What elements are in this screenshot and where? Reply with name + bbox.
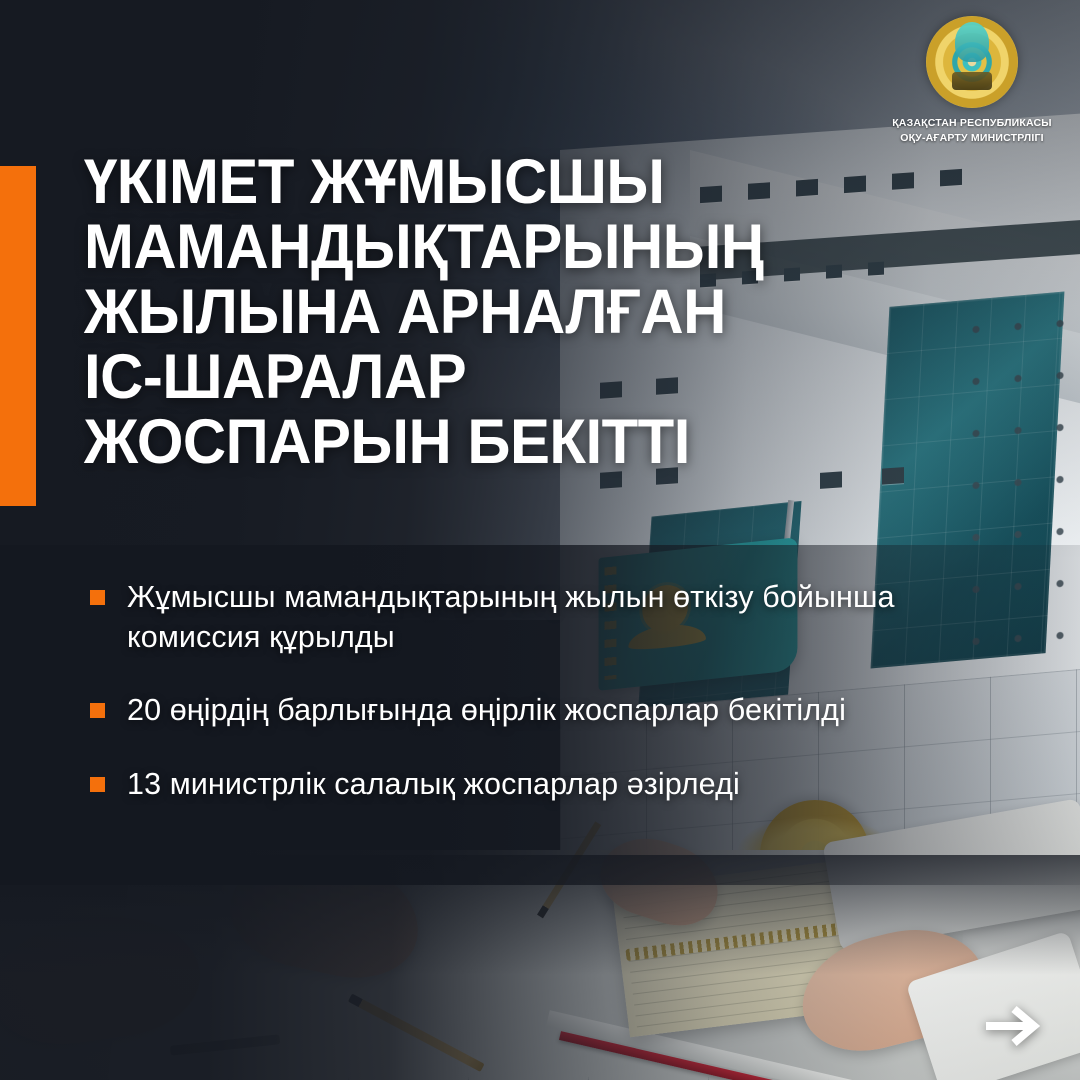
bullet-text-1: Жұмысшы мамандықтарының жылын өткізу бой…	[127, 578, 982, 657]
bullet-list: Жұмысшы мамандықтарының жылын өткізу бой…	[90, 578, 990, 839]
square-bullet-icon	[90, 777, 105, 792]
square-bullet-icon	[90, 590, 105, 605]
bottom-fade-overlay	[0, 855, 1080, 975]
next-slide-button[interactable]	[980, 1000, 1046, 1052]
logo-line-ministry: ОҚУ-АҒАРТУ МИНИСТРЛІГІ	[892, 131, 1052, 146]
arrow-right-icon[interactable]	[984, 1003, 1042, 1049]
page-title: ҮКІМЕТ ЖҰМЫСШЫ МАМАНДЫҚТАРЫНЫҢ ЖЫЛЫНА АР…	[84, 150, 964, 474]
ministry-logo: ҚАЗАҚСТАН РЕСПУБЛИКАСЫ ОҚУ-АҒАРТУ МИНИСТ…	[892, 16, 1052, 146]
square-bullet-icon	[90, 703, 105, 718]
title-line-5: ЖОСПАРЫН БЕКІТТІ	[84, 410, 920, 475]
list-item: Жұмысшы мамандықтарының жылын өткізу бой…	[90, 578, 990, 657]
logo-line-country: ҚАЗАҚСТАН РЕСПУБЛИКАСЫ	[892, 116, 1052, 131]
list-item: 20 өңірдің барлығында өңірлік жоспарлар …	[90, 691, 990, 731]
orange-accent-bar	[0, 166, 36, 506]
poster-canvas: ҚАЗАҚСТАН РЕСПУБЛИКАСЫ ОҚУ-АҒАРТУ МИНИСТ…	[0, 0, 1080, 1080]
list-item: 13 министрлік салалық жоспарлар әзірледі	[90, 765, 990, 805]
title-line-2: МАМАНДЫҚТАРЫНЫҢ	[84, 215, 920, 280]
title-line-1: ҮКІМЕТ ЖҰМЫСШЫ	[84, 150, 920, 215]
bullet-text-3: 13 министрлік салалық жоспарлар әзірледі	[127, 765, 740, 805]
title-line-3: ЖЫЛЫНА АРНАЛҒАН	[84, 280, 920, 345]
bullet-text-2: 20 өңірдің барлығында өңірлік жоспарлар …	[127, 691, 846, 731]
title-line-4: ІС-ШАРАЛАР	[84, 345, 920, 410]
kazakhstan-state-emblem-icon	[926, 16, 1018, 108]
